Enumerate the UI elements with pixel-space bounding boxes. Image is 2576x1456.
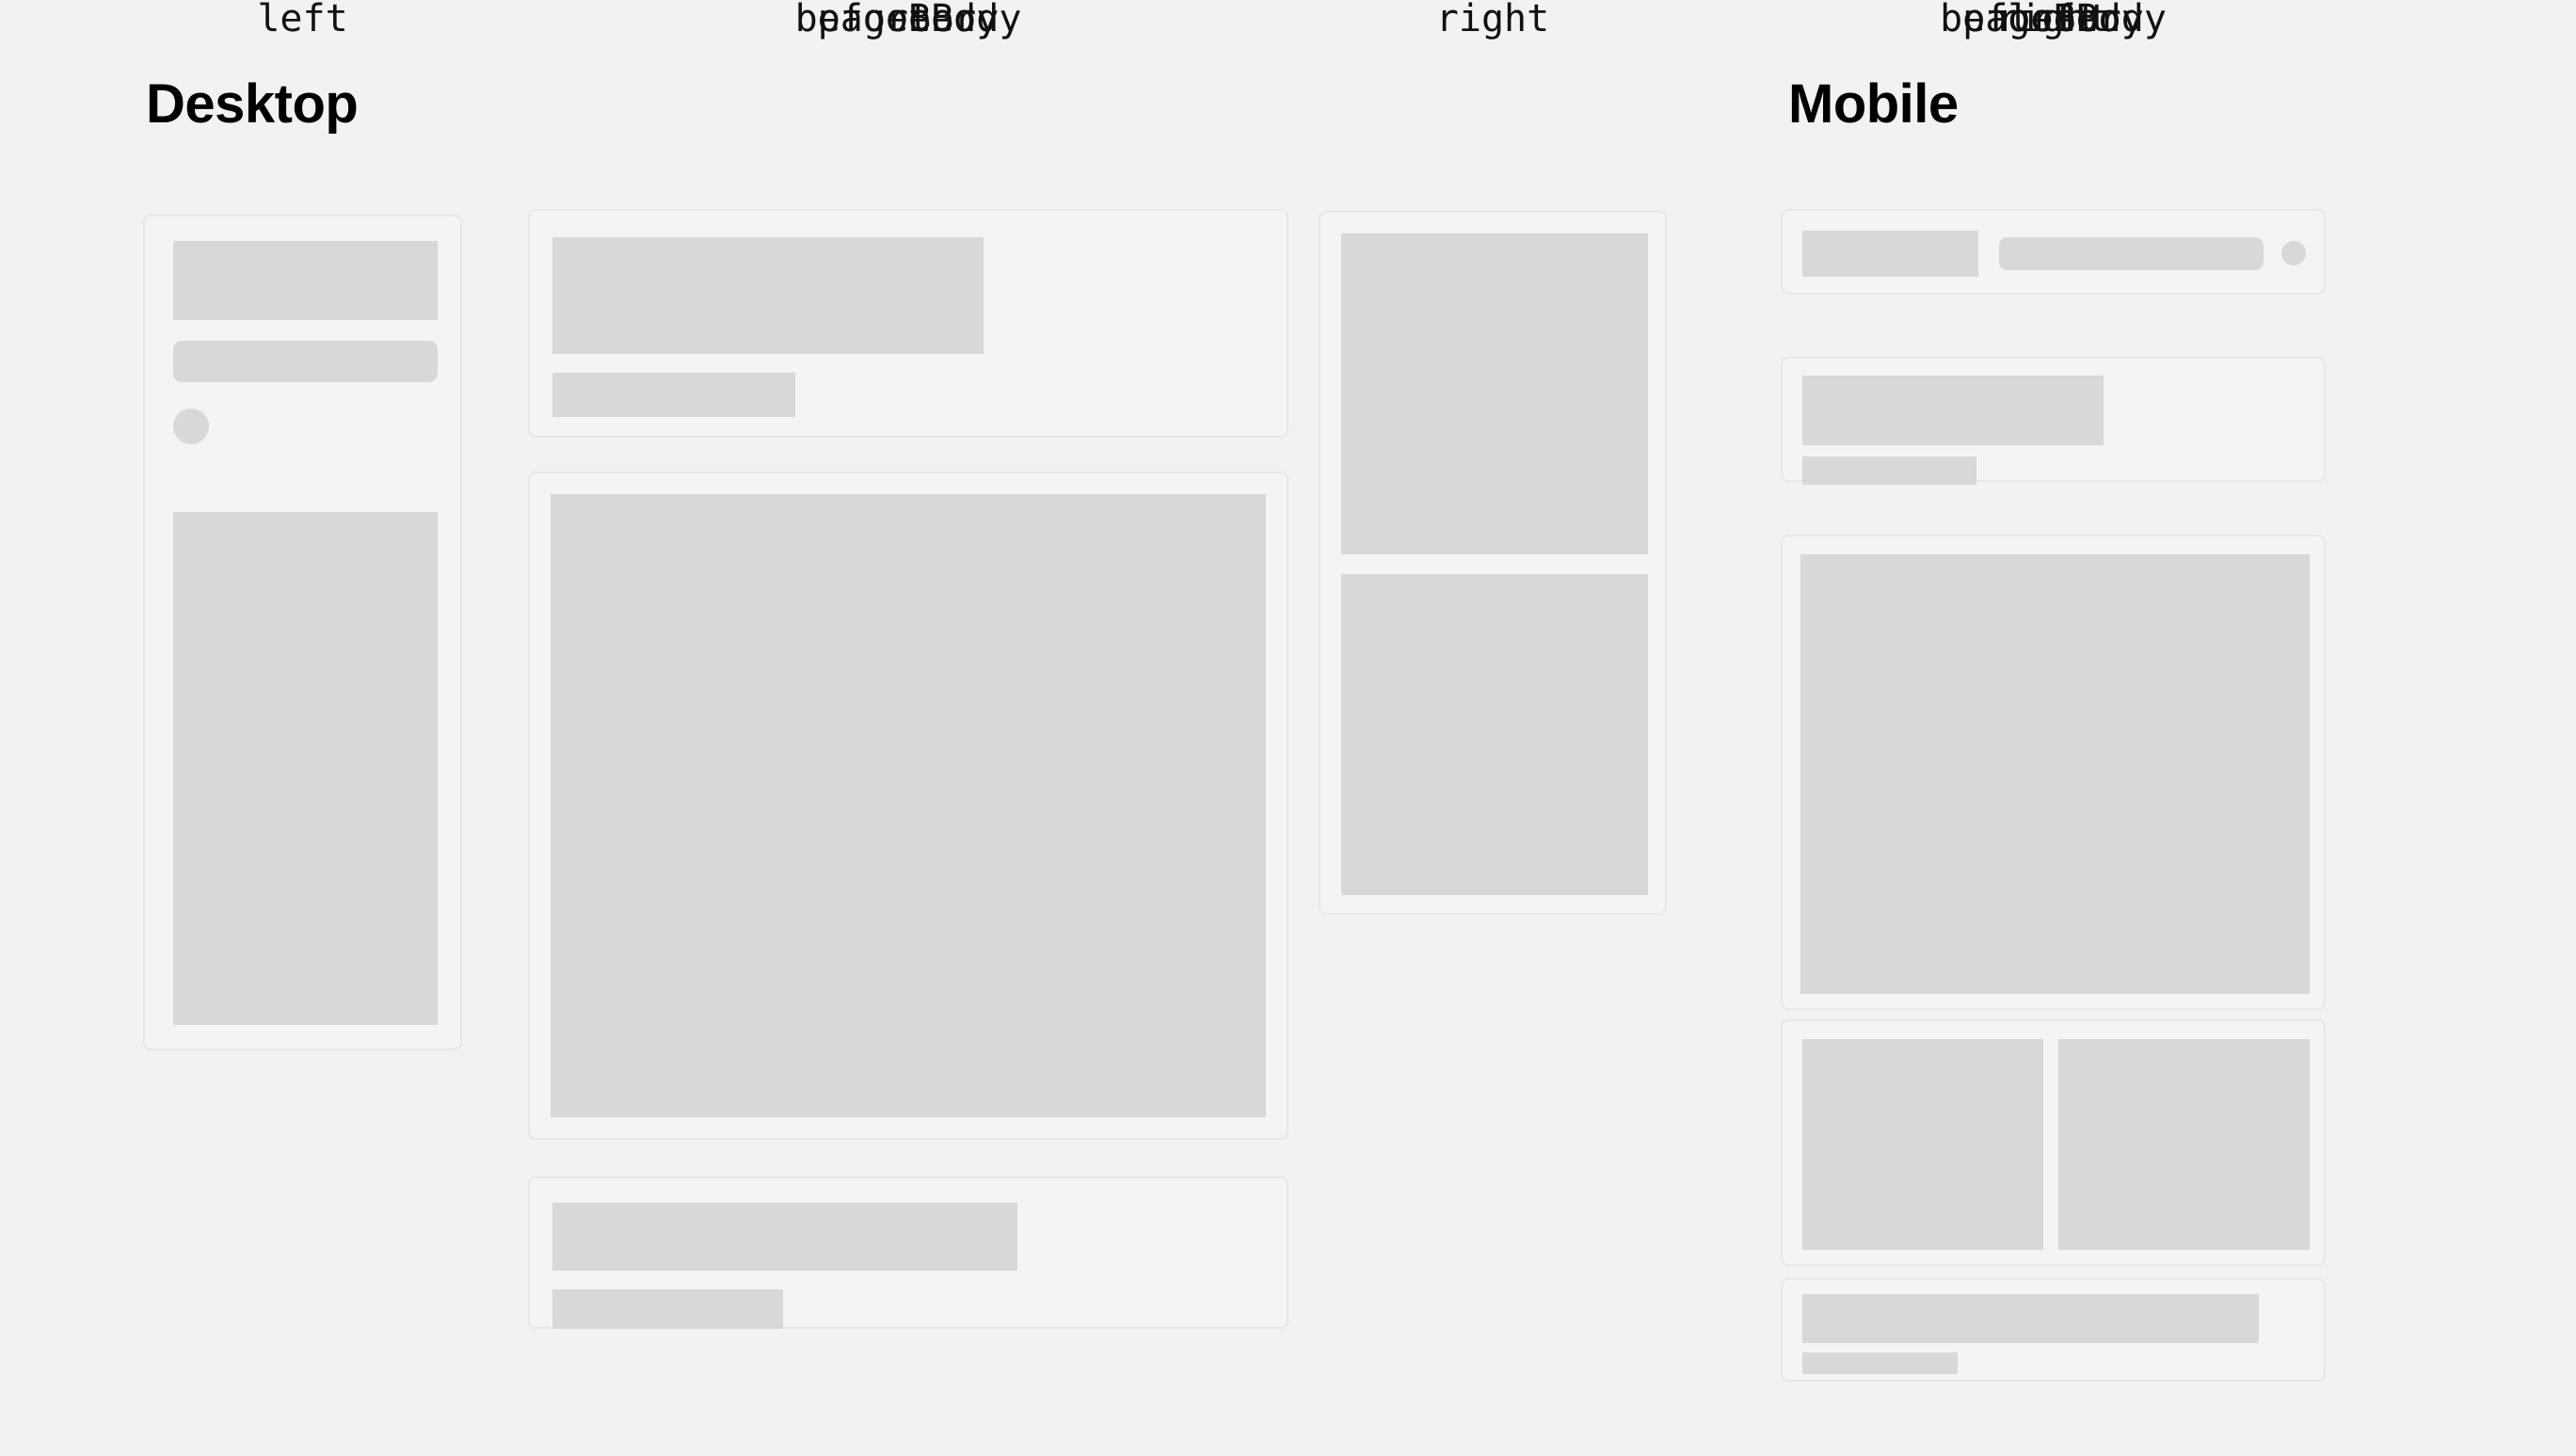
skeleton-bar	[1999, 237, 2264, 270]
skeleton-bar-short	[552, 1289, 783, 1329]
skeleton-bar-short	[1802, 1352, 1958, 1374]
mobile-region-footer-label: footer	[1781, 0, 2326, 38]
skeleton-block	[2058, 1039, 2310, 1250]
skeleton-avatar-circle	[173, 408, 209, 444]
skeleton-block	[1341, 574, 1648, 895]
mobile-region-left[interactable]	[1781, 209, 2326, 295]
mobile-region-left-label: left	[1781, 0, 2326, 38]
skeleton-block-large	[551, 494, 1266, 1117]
skeleton-bar	[1802, 1294, 2259, 1343]
skeleton-block	[552, 237, 984, 354]
skeleton-block	[1802, 231, 1978, 277]
desktop-region-footer[interactable]	[528, 1176, 1288, 1329]
skeleton-avatar-circle	[2281, 241, 2306, 265]
desktop-region-beforebody-label: beforeBody	[528, 0, 1288, 38]
skeleton-bar	[173, 341, 438, 382]
skeleton-block	[1802, 1039, 2043, 1250]
skeleton-block	[1341, 233, 1648, 554]
desktop-region-right-label: right	[1319, 0, 1667, 38]
desktop-section-title: Desktop	[146, 77, 358, 132]
mobile-region-pagebody[interactable]	[1781, 535, 2326, 1010]
mobile-region-footer[interactable]	[1781, 1278, 2326, 1382]
mobile-region-right-label: right	[1781, 0, 2326, 38]
skeleton-block-large	[1800, 554, 2310, 994]
desktop-region-footer-label: footer	[528, 0, 1288, 38]
mobile-region-right[interactable]	[1781, 1019, 2326, 1266]
mobile-section-title: Mobile	[1788, 77, 1959, 132]
layout-preview-stage: Desktop left beforeBody pageBody right f…	[0, 0, 2576, 1456]
desktop-region-right[interactable]	[1319, 211, 1667, 915]
mobile-region-beforebody[interactable]	[1781, 357, 2326, 482]
mobile-region-pagebody-label: pageBody	[1781, 0, 2326, 38]
desktop-region-left-label: left	[143, 0, 462, 38]
skeleton-block	[1802, 376, 2104, 445]
mobile-region-beforebody-label: beforeBody	[1781, 0, 2326, 38]
skeleton-block-tall	[173, 512, 438, 1025]
desktop-region-beforebody[interactable]	[528, 209, 1288, 438]
skeleton-bar	[1802, 456, 1976, 485]
desktop-region-pagebody-label: pageBody	[528, 0, 1288, 38]
skeleton-bar	[552, 1203, 1017, 1271]
desktop-region-left[interactable]	[143, 215, 462, 1050]
desktop-region-pagebody[interactable]	[528, 472, 1288, 1140]
skeleton-block	[173, 241, 438, 320]
skeleton-bar	[552, 373, 795, 417]
